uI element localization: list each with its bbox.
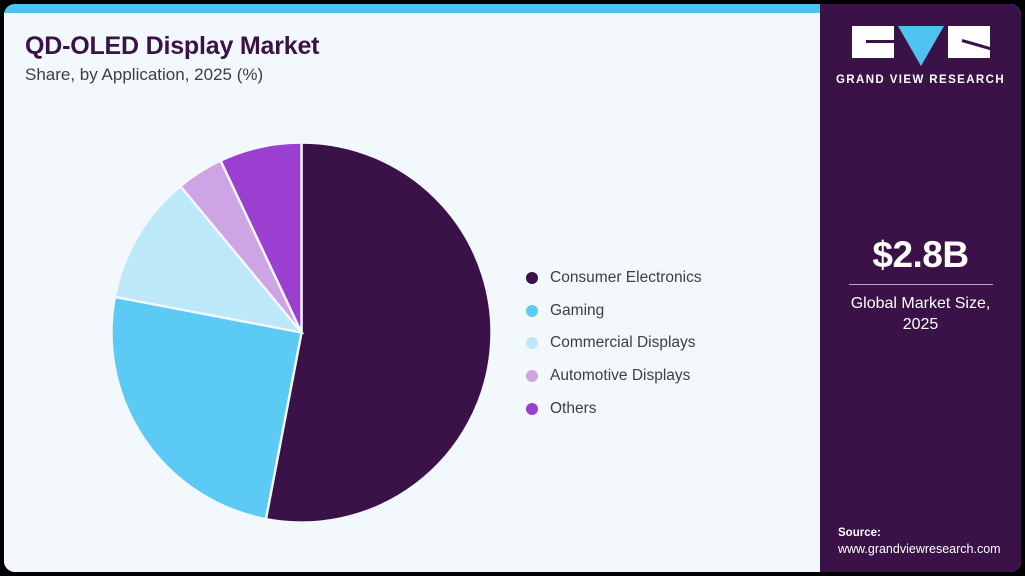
chart-legend: Consumer ElectronicsGamingCommercial Dis… [526, 262, 806, 425]
legend-item[interactable]: Others [526, 392, 806, 425]
source-title: Source: [838, 527, 1018, 539]
logo-wordmark: GRAND VIEW RESEARCH [820, 74, 1021, 86]
pie-chart-svg [104, 135, 499, 530]
card-surface: QD-OLED Display Market Share, by Applica… [4, 4, 1021, 572]
legend-item-label: Consumer Electronics [550, 269, 702, 287]
logo-r-icon [948, 26, 990, 58]
source-block: Source: www.grandviewresearch.com [838, 527, 1018, 556]
chart-infographic: QD-OLED Display Market Share, by Applica… [0, 0, 1025, 576]
brand-panel: GRAND VIEW RESEARCH $2.8B Global Market … [820, 4, 1021, 572]
chart-panel: QD-OLED Display Market Share, by Applica… [4, 13, 820, 572]
legend-color-swatch-icon [526, 337, 538, 349]
legend-item-label: Automotive Displays [550, 367, 690, 385]
source-url[interactable]: www.grandviewresearch.com [838, 542, 1018, 556]
legend-color-swatch-icon [526, 403, 538, 415]
legend-item[interactable]: Automotive Displays [526, 360, 806, 393]
page-subtitle: Share, by Application, 2025 (%) [25, 65, 263, 85]
pie-slice[interactable] [112, 297, 302, 519]
legend-item[interactable]: Consumer Electronics [526, 262, 806, 295]
legend-color-swatch-icon [526, 370, 538, 382]
legend-item[interactable]: Gaming [526, 295, 806, 328]
gvr-logo: GRAND VIEW RESEARCH [820, 26, 1021, 86]
stat-divider [849, 284, 993, 285]
legend-item-label: Commercial Displays [550, 334, 696, 352]
logo-marks [820, 26, 1021, 66]
market-size-stat: $2.8B Global Market Size, 2025 [820, 236, 1021, 335]
legend-item-label: Others [550, 400, 597, 418]
legend-color-swatch-icon [526, 305, 538, 317]
legend-item[interactable]: Commercial Displays [526, 327, 806, 360]
logo-g-icon [852, 26, 894, 58]
logo-v-triangle-icon [898, 26, 944, 66]
market-size-value: $2.8B [820, 236, 1021, 275]
legend-item-label: Gaming [550, 302, 604, 320]
market-size-label: Global Market Size, 2025 [820, 293, 1021, 336]
legend-color-swatch-icon [526, 272, 538, 284]
pie-chart [104, 135, 499, 530]
page-title: QD-OLED Display Market [25, 32, 319, 61]
